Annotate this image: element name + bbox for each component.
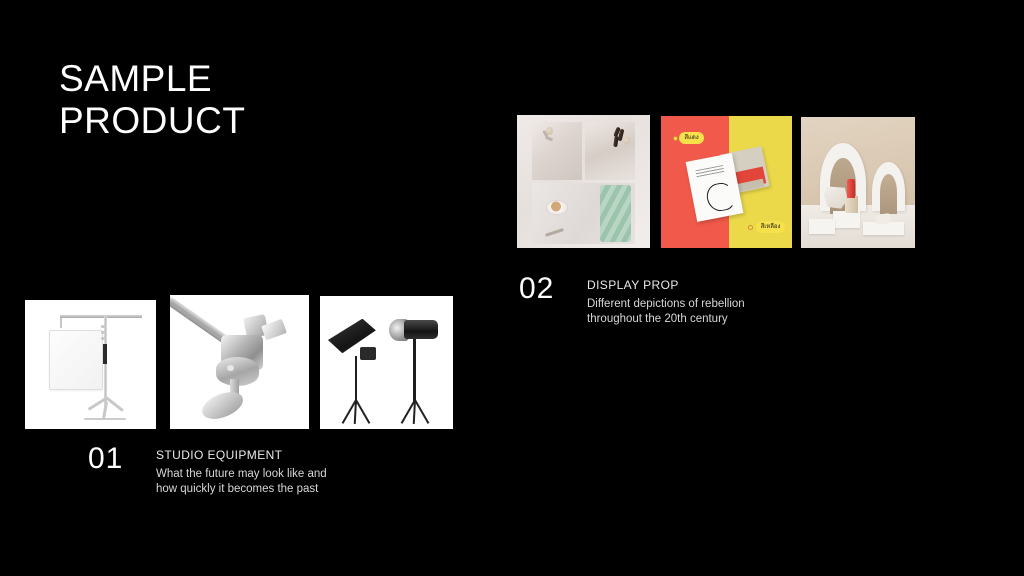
card-text-lines [696, 165, 724, 177]
caption-number-01: 01 [88, 442, 156, 476]
stand-base-bar [84, 418, 126, 420]
stand-knob [101, 325, 106, 328]
softbox-light-body [360, 347, 376, 360]
collage-tile-top-right [585, 122, 636, 181]
makeup-stick [544, 135, 553, 141]
strobe-head [404, 320, 439, 339]
image-white-arch-lipstick-display[interactable] [801, 117, 915, 248]
caption-heading-02: DISPLAY PROP [587, 277, 745, 293]
badge-label-yellow: สีเหลือง [756, 221, 786, 233]
caption-number-02: 02 [519, 272, 587, 306]
lipstick-base [845, 196, 858, 213]
stand-knob [101, 337, 106, 340]
knit-blanket [600, 185, 631, 241]
caption-body-02: DISPLAY PROP Different depictions of reb… [587, 272, 745, 327]
image-strobe-lights-on-stands[interactable] [320, 296, 453, 429]
caption-description-02: Different depictions of rebellion throug… [587, 297, 745, 327]
collage-tile-top-left [532, 122, 583, 181]
image-grip-head-clamp-closeup[interactable] [170, 295, 309, 429]
presentation-slide: SAMPLE PRODUCT สีแดง [0, 0, 1024, 576]
light-stand-leg [354, 400, 357, 424]
light-stand-pole [355, 356, 358, 404]
image-cosmetics-flatlay-collage[interactable] [517, 115, 650, 248]
stand-knob [101, 331, 106, 334]
light-stand-leg [414, 399, 429, 423]
lipstick-bullet [847, 179, 855, 199]
caption-heading-01: STUDIO EQUIPMENT [156, 447, 327, 463]
page-title: SAMPLE PRODUCT [59, 58, 245, 142]
boom-arm [60, 315, 141, 318]
plinth-block [809, 219, 835, 233]
plinth-block [833, 211, 860, 228]
stand-leg [105, 397, 123, 412]
collage-tile-bottom [532, 183, 636, 244]
caption-block-02: 02 DISPLAY PROP Different depictions of … [519, 272, 745, 327]
reflector-panel [49, 330, 103, 390]
caption-block-01: 01 STUDIO EQUIPMENT What the future may … [88, 442, 327, 497]
badge-label-red: สีแดง [679, 132, 703, 144]
light-stand-pole [413, 339, 416, 403]
light-stand-leg [355, 399, 370, 423]
makeup-brush [613, 135, 618, 146]
badge-dot-icon [748, 225, 753, 230]
image-red-yellow-packaging-card[interactable]: สีแดง สีเหลือง [661, 116, 792, 248]
light-stand-leg [412, 400, 415, 424]
stand-grip [103, 344, 108, 365]
caption-description-01: What the future may look like and how qu… [156, 467, 327, 497]
image-c-stand-with-reflector-panel[interactable] [25, 300, 156, 429]
face-line-art [705, 180, 737, 213]
caption-body-01: STUDIO EQUIPMENT What the future may loo… [156, 442, 327, 497]
powder-compact [546, 127, 553, 135]
powder-compact [623, 137, 630, 145]
coffee-cup [546, 200, 568, 215]
dried-sprig [545, 228, 564, 237]
